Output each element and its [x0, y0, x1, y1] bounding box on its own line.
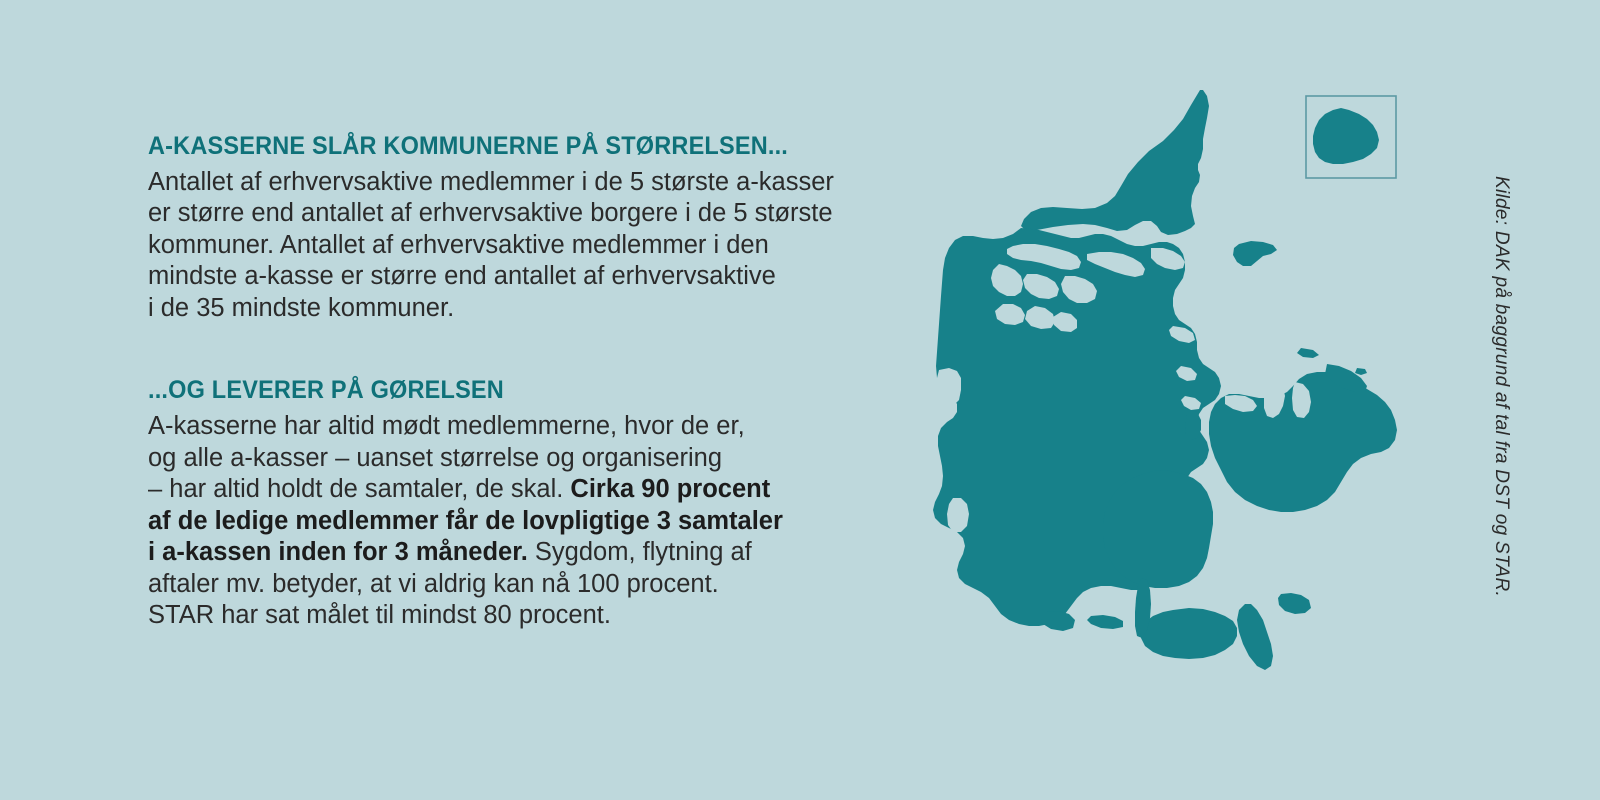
- laeso-island: [1233, 241, 1277, 266]
- body-line-emphasis: Cirka 90 procent: [570, 475, 770, 503]
- section-size: A-KASSERNE SLÅR KOMMUNERNE PÅ STØRRELSEN…: [148, 132, 908, 324]
- body-line: i de 35 mindste kommuner.: [148, 293, 908, 325]
- source-credit: Kilde: DAK på baggrund af tal fra DST og…: [1490, 176, 1512, 597]
- bornholm-island: [1313, 108, 1379, 164]
- body-line: er større end antallet af erhvervsaktive…: [148, 198, 908, 230]
- small-island: [1355, 368, 1367, 375]
- als-island: [1041, 611, 1075, 631]
- section-delivery: ...OG LEVERER PÅ GØRELSEN A-kasserne har…: [148, 376, 908, 631]
- section-body-size: Antallet af erhvervsaktive medlemmer i d…: [148, 167, 908, 325]
- vendsyssel-region: [1021, 90, 1209, 235]
- body-line-normal: – har altid holdt de samtaler, de skal.: [148, 475, 570, 503]
- falster-island: [1237, 604, 1273, 670]
- section-body-delivery: A-kasserne har altid mødt medlemmerne, h…: [148, 411, 908, 632]
- section-heading-size: A-KASSERNE SLÅR KOMMUNERNE PÅ STØRRELSEN…: [148, 132, 862, 161]
- infographic-root: A-KASSERNE SLÅR KOMMUNERNE PÅ STØRRELSEN…: [0, 0, 1600, 800]
- body-line: kommuner. Antallet af erhvervsaktive med…: [148, 230, 908, 262]
- funen-island: [1103, 470, 1213, 588]
- denmark-map: [895, 78, 1465, 708]
- section-heading-delivery: ...OG LEVERER PÅ GØRELSEN: [148, 376, 862, 405]
- body-line-mixed: – har altid holdt de samtaler, de skal. …: [148, 474, 908, 506]
- mon-island: [1278, 593, 1311, 614]
- text-column: A-KASSERNE SLÅR KOMMUNERNE PÅ STØRRELSEN…: [148, 132, 908, 632]
- aero-island: [1087, 615, 1123, 629]
- anholt-island: [1297, 348, 1319, 358]
- body-line: mindste a-kasse er større end antallet a…: [148, 261, 908, 293]
- body-line: STAR har sat målet til mindst 80 procent…: [148, 600, 908, 632]
- body-line-mixed: i a-kassen inden for 3 måneder. Sygdom, …: [148, 537, 908, 569]
- denmark-landmass: [933, 90, 1397, 670]
- body-line: og alle a-kasser – uanset størrelse og o…: [148, 443, 908, 475]
- body-line: A-kasserne har altid mødt medlemmerne, h…: [148, 411, 908, 443]
- body-line: Antallet af erhvervsaktive medlemmer i d…: [148, 167, 908, 199]
- body-line: aftaler mv. betyder, at vi aldrig kan nå…: [148, 569, 908, 601]
- body-line-emphasis: i a-kassen inden for 3 måneder.: [148, 538, 528, 566]
- denmark-map-svg: [895, 78, 1465, 708]
- body-line-emphasis: af de ledige medlemmer får de lovpligtig…: [148, 506, 908, 538]
- lolland-island: [1141, 608, 1237, 659]
- body-line-normal: Sygdom, flytning af: [528, 538, 752, 566]
